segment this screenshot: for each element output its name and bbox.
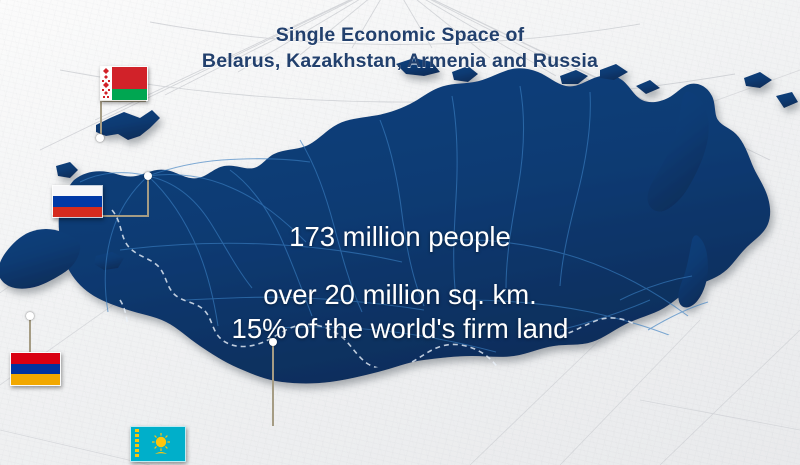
belarus-ornament-icon xyxy=(101,67,112,100)
armenia-blue-band xyxy=(11,364,60,375)
statistics-block: 173 million people over 20 million sq. k… xyxy=(0,222,800,344)
leader-line-armenia-vertical xyxy=(29,318,31,352)
flag-belarus xyxy=(100,66,148,101)
marker-dot-armenia xyxy=(26,312,34,320)
flag-russia-stripes xyxy=(53,186,102,217)
flag-kazakhstan xyxy=(130,426,186,462)
leader-line-russia-vertical xyxy=(147,176,149,216)
russia-white-band xyxy=(53,186,102,196)
stat-land-share: 15% of the world's firm land xyxy=(0,314,800,344)
russia-blue-band xyxy=(53,196,102,206)
leader-line-kazakhstan-vertical xyxy=(272,344,274,426)
armenia-red-band xyxy=(11,353,60,364)
marker-dot-kazakhstan xyxy=(269,338,277,346)
stat-area: over 20 million sq. km. xyxy=(0,280,800,310)
flag-armenia-stripes xyxy=(11,353,60,385)
flag-russia xyxy=(52,185,103,218)
marker-dot-belarus xyxy=(96,134,104,142)
russia-red-band xyxy=(53,207,102,217)
kazakhstan-emblem-icon xyxy=(131,427,185,461)
armenia-orange-band xyxy=(11,374,60,385)
stat-spacer xyxy=(0,252,800,280)
infographic-canvas: Single Economic Space of Belarus, Kazakh… xyxy=(0,0,800,465)
marker-dot-russia xyxy=(144,172,152,180)
flag-armenia xyxy=(10,352,61,386)
stat-population: 173 million people xyxy=(0,222,800,252)
